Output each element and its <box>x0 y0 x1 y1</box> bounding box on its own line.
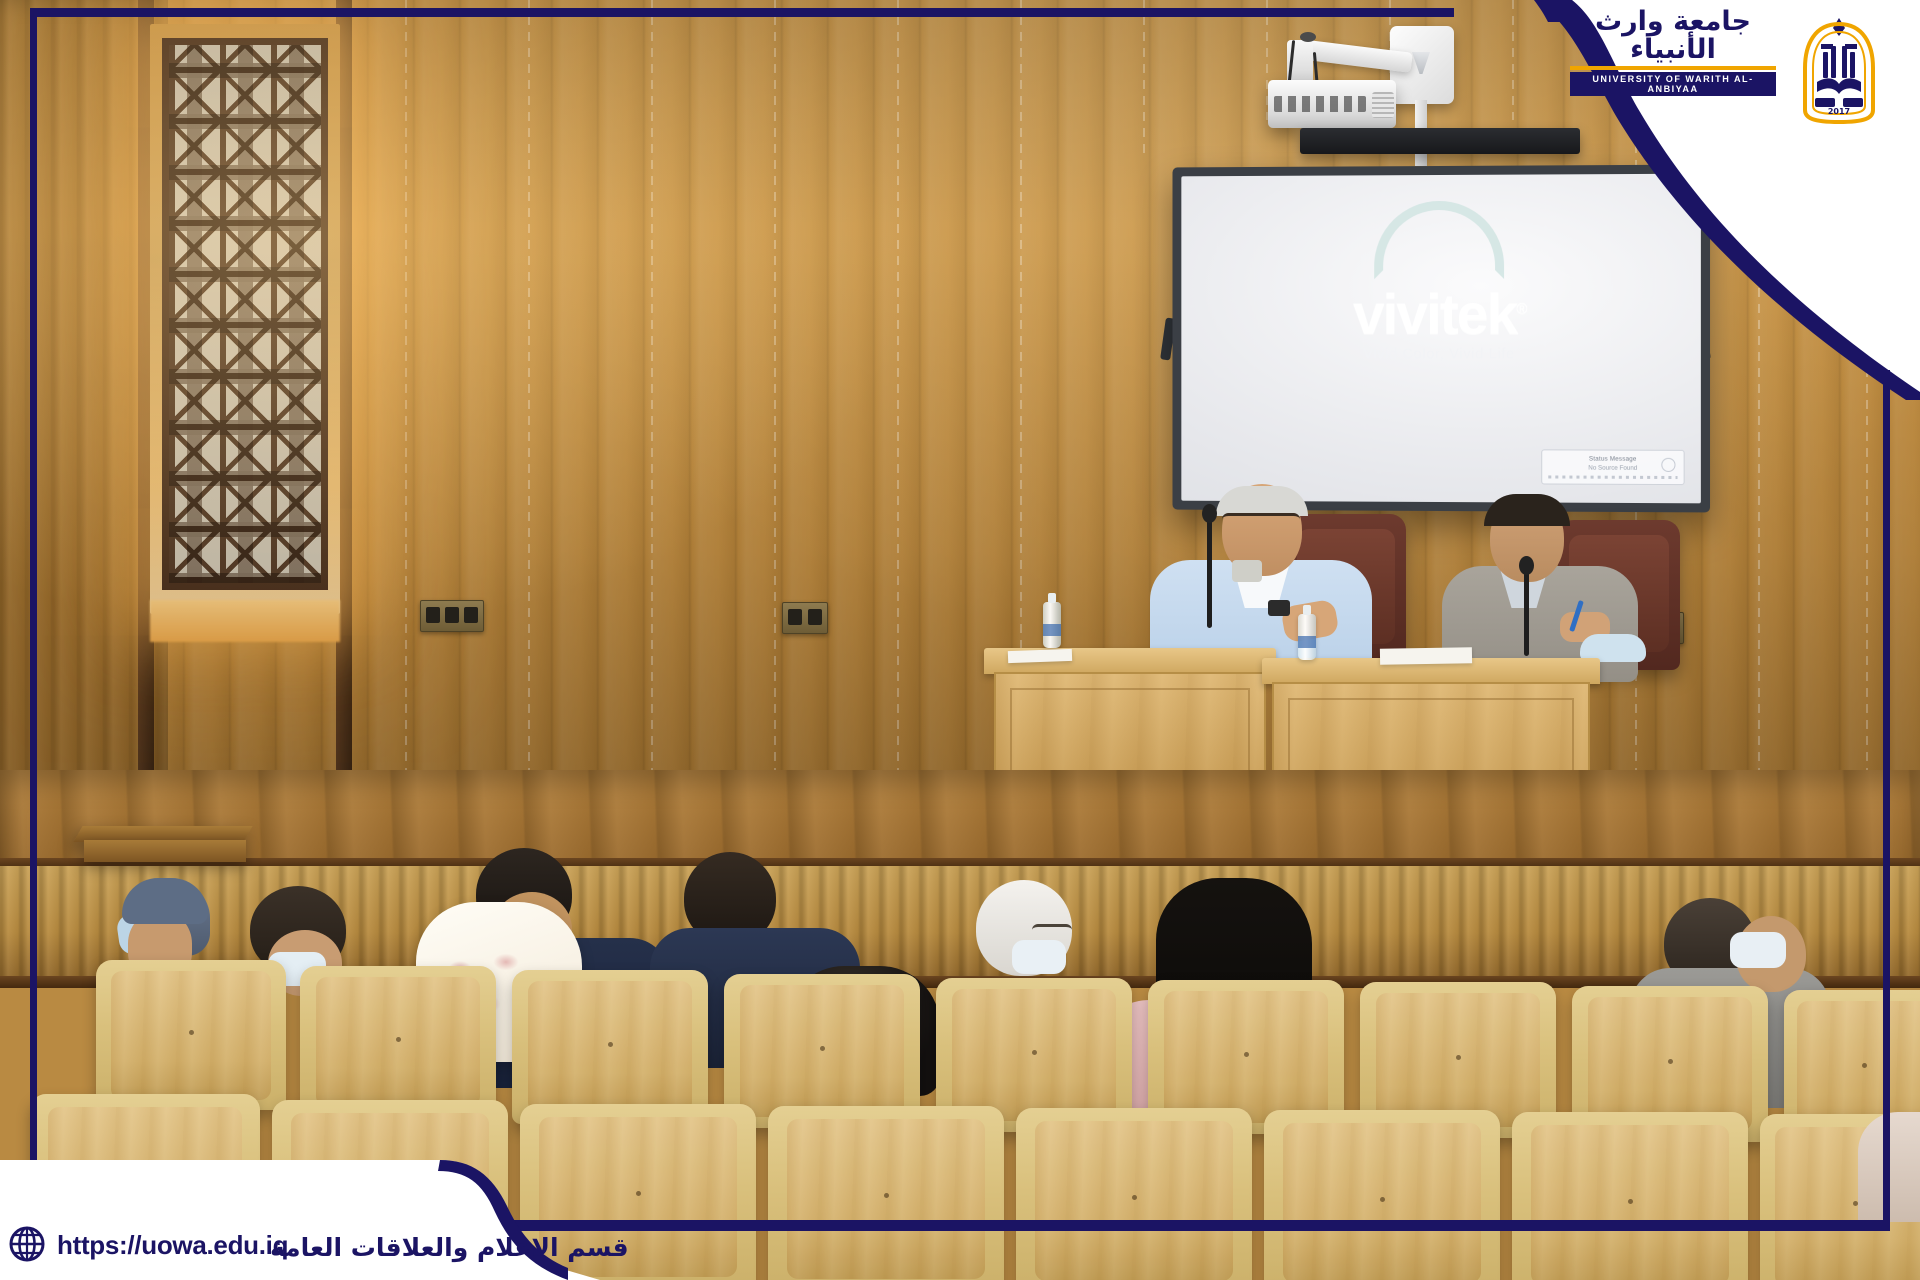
speaker-left-hair <box>1216 486 1308 516</box>
speaker-left-beard <box>1232 560 1262 582</box>
seat <box>30 1094 260 1280</box>
projector-ports <box>1274 96 1366 112</box>
auditorium-photograph: vivitek® Vivid Color, Vivid Life Status … <box>0 0 1920 1280</box>
seat <box>1016 1108 1252 1280</box>
interactive-whiteboard: vivitek® Vivid Color, Vivid Life Status … <box>1172 165 1710 513</box>
photo-card: vivitek® Vivid Color, Vivid Life Status … <box>0 0 1920 1280</box>
vivitek-wordmark: vivitek® <box>1181 288 1701 343</box>
soundbar <box>1300 128 1580 154</box>
face-mask-icon <box>1012 940 1066 974</box>
eyeglasses-icon <box>1222 513 1300 526</box>
seat <box>96 960 286 1110</box>
power-socket-left <box>420 600 484 632</box>
seat <box>768 1106 1004 1280</box>
vivitek-arc-mark <box>1374 201 1504 279</box>
osd-title: Status Message <box>1548 455 1677 463</box>
water-bottle-left <box>1043 602 1061 648</box>
osd-progress <box>1548 475 1677 479</box>
projector-knob <box>1300 32 1316 42</box>
osd-status-box: Status Message No Source Found <box>1541 449 1684 485</box>
face-mask-icon <box>1730 932 1786 968</box>
seat <box>272 1100 508 1280</box>
osd-indicator-icon <box>1661 458 1675 472</box>
papers-left <box>1008 649 1072 663</box>
stage-step-riser <box>84 840 246 862</box>
microphone-left <box>1207 518 1212 628</box>
eyeglasses-icon <box>1032 924 1072 937</box>
water-bottle-right <box>1298 614 1316 660</box>
papers-right <box>1380 647 1472 665</box>
seat <box>1264 1110 1500 1280</box>
power-socket-mid <box>782 602 828 634</box>
wristwatch-icon <box>1268 600 1290 616</box>
microphone-right <box>1524 570 1529 656</box>
vivitek-logo: vivitek® Vivid Color, Vivid Life <box>1181 288 1701 363</box>
seat <box>1512 1112 1748 1280</box>
vivitek-tagline: Vivid Color, Vivid Life <box>1181 347 1701 363</box>
screen-surface: vivitek® Vivid Color, Vivid Life Status … <box>1181 174 1701 504</box>
seat <box>300 966 496 1118</box>
osd-status: No Source Found <box>1548 464 1677 472</box>
registered-mark: ® <box>1516 301 1525 318</box>
projector-vent <box>1372 92 1394 118</box>
attendee-11-hijab <box>1858 1112 1920 1222</box>
seat <box>512 970 708 1124</box>
seat <box>520 1104 756 1280</box>
